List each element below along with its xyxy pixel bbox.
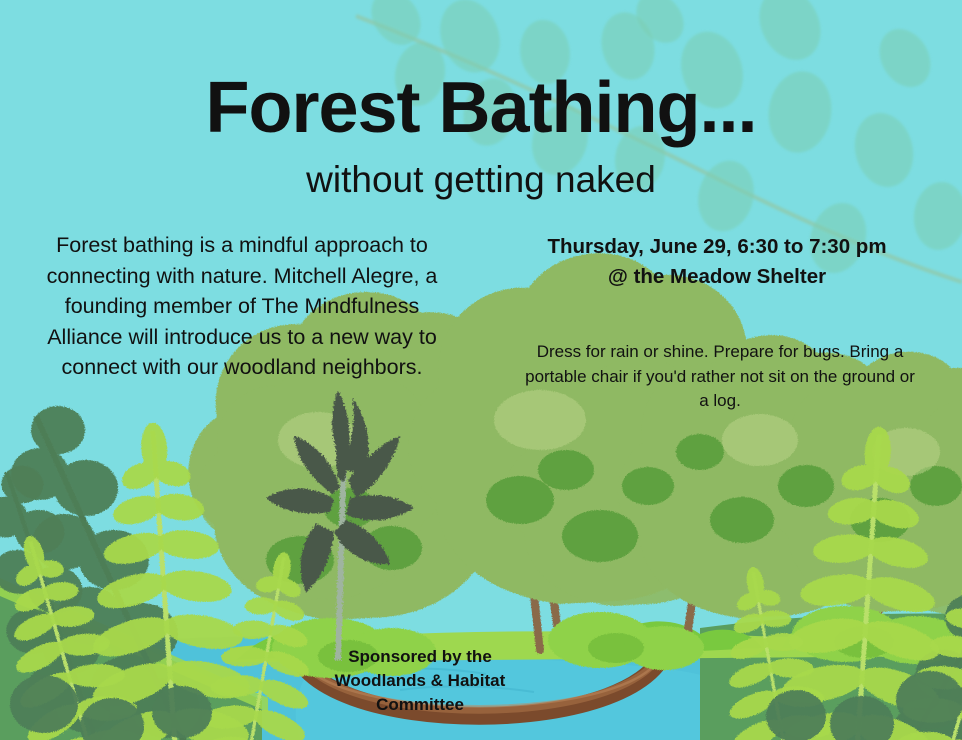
page-title: Forest Bathing... <box>0 72 962 144</box>
description-paragraph: Forest bathing is a mindful approach to … <box>32 230 452 383</box>
sponsor-line-3: Committee <box>300 693 540 717</box>
dark-sprig-right <box>948 402 962 740</box>
event-instructions: Dress for rain or shine. Prepare for bug… <box>520 340 920 414</box>
event-datetime: Thursday, June 29, 6:30 to 7:30 pm <box>492 232 942 262</box>
event-details: Thursday, June 29, 6:30 to 7:30 pm @ the… <box>492 232 942 291</box>
page-subtitle: without getting naked <box>0 160 962 201</box>
fern-frond-icon-right <box>773 421 962 740</box>
sponsor-line-1: Sponsored by the <box>300 645 540 669</box>
dark-palm-leaf-icon <box>266 390 414 660</box>
event-location: @ the Meadow Shelter <box>492 262 942 292</box>
sponsor-line-2: Woodlands & Habitat <box>300 669 540 693</box>
sponsor-credit: Sponsored by the Woodlands & Habitat Com… <box>300 645 540 717</box>
right-foliage-group <box>700 402 962 740</box>
poster-canvas: Forest Bathing... without getting naked … <box>0 0 962 740</box>
left-foliage-group <box>0 406 339 740</box>
fern-frond-icon-left <box>70 417 259 740</box>
dark-sprig-left <box>11 406 200 740</box>
